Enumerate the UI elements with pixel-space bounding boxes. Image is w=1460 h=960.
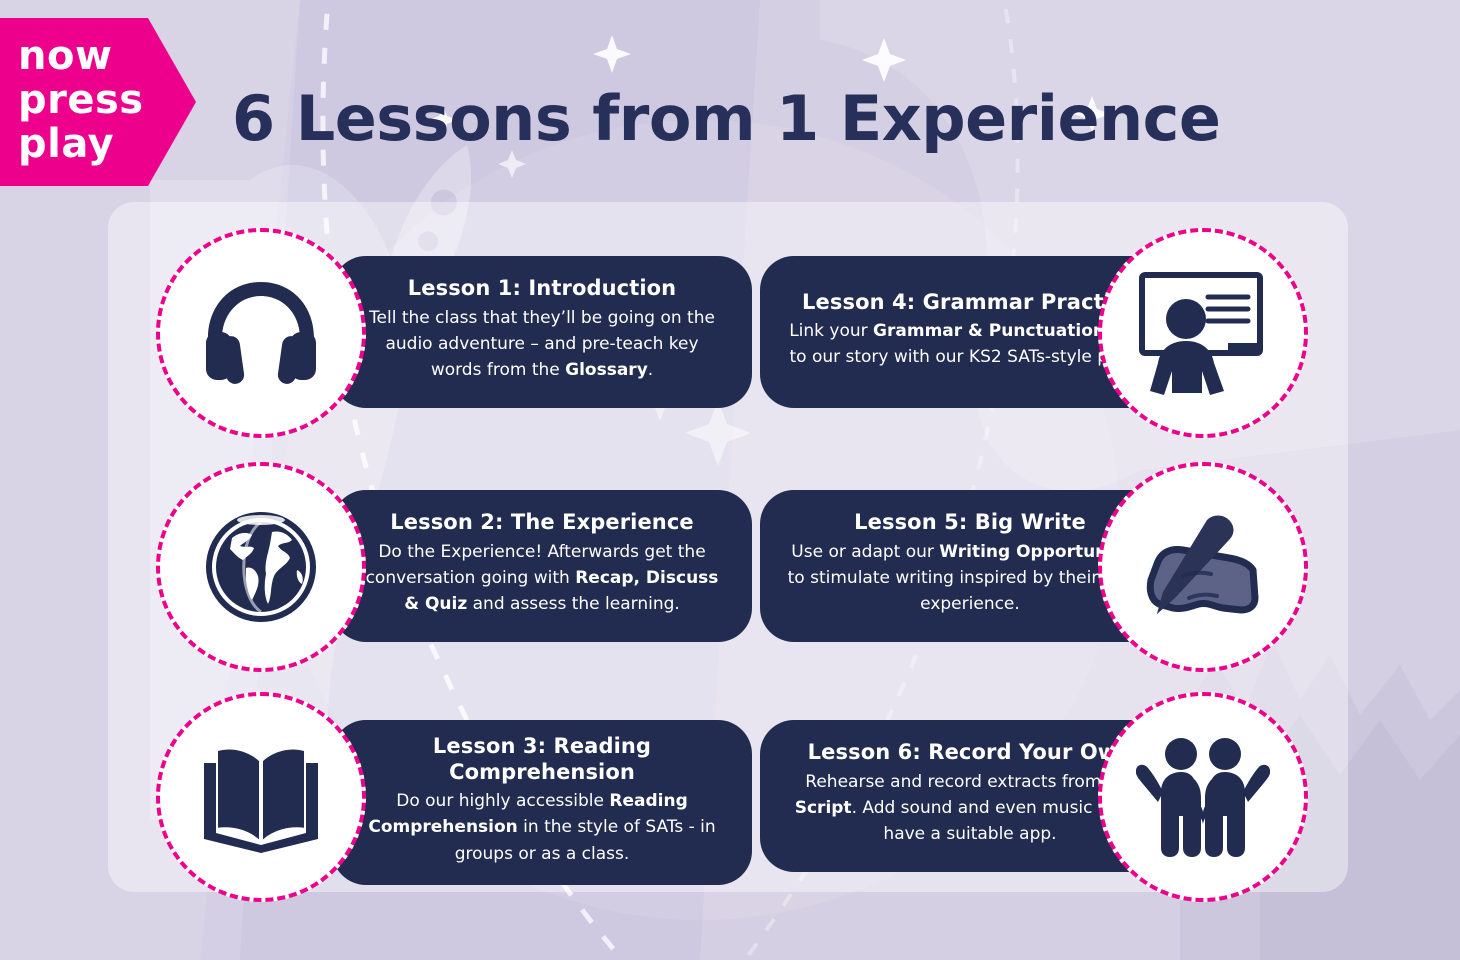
brand-logo-text: now press play [18, 34, 144, 166]
infographic-canvas: now press play 6 Lessons from 1 Experien… [0, 0, 1460, 960]
logo-line-3: play [18, 122, 144, 166]
page-title: 6 Lessons from 1 Experience [232, 86, 1332, 151]
headphones-glyph [202, 278, 320, 388]
open-book-icon [156, 692, 366, 902]
lesson-title: Lesson 4: Grammar Practice [786, 290, 1154, 316]
lesson-item-6[interactable]: Lesson 6: Record Your Own Rehearse and r… [748, 692, 1308, 902]
lesson-title: Lesson 6: Record Your Own [786, 740, 1154, 766]
globe-glyph [202, 508, 320, 626]
logo-line-1: now [18, 34, 144, 78]
lesson-body: Do our highly accessible Reading Compreh… [358, 788, 726, 867]
lesson-item-3[interactable]: Lesson 3: Reading Comprehension Do our h… [156, 692, 716, 902]
globe-icon [156, 462, 366, 672]
lesson-card-1[interactable]: Lesson 1: Introduction Tell the class th… [332, 256, 752, 408]
logo-line-2: press [18, 78, 144, 122]
writing-hand-glyph [1137, 506, 1269, 628]
lesson-body: Tell the class that they’ll be going on … [358, 305, 726, 384]
lesson-title: Lesson 3: Reading Comprehension [358, 734, 726, 785]
open-book-glyph [198, 741, 324, 853]
lesson-body: Do the Experience! Afterwards get the co… [358, 539, 726, 618]
lesson-item-1[interactable]: Lesson 1: Introduction Tell the class th… [156, 228, 716, 438]
lesson-title: Lesson 5: Big Write [786, 510, 1154, 536]
lesson-card-2[interactable]: Lesson 2: The Experience Do the Experien… [332, 490, 752, 642]
lesson-item-5[interactable]: Lesson 5: Big Write Use or adapt our Wri… [748, 462, 1308, 672]
teacher-whiteboard-icon [1098, 228, 1308, 438]
lesson-title: Lesson 1: Introduction [358, 276, 726, 302]
two-people-icon [1098, 692, 1308, 902]
lesson-item-4[interactable]: Lesson 4: Grammar Practice Link your Gra… [748, 228, 1308, 438]
two-people-glyph [1136, 736, 1270, 858]
lesson-card-3[interactable]: Lesson 3: Reading Comprehension Do our h… [332, 720, 752, 885]
lesson-title: Lesson 2: The Experience [358, 510, 726, 536]
headphones-icon [156, 228, 366, 438]
writing-hand-icon [1098, 462, 1308, 672]
lesson-item-2[interactable]: Lesson 2: The Experience Do the Experien… [156, 462, 716, 672]
teacher-whiteboard-glyph [1136, 271, 1270, 395]
